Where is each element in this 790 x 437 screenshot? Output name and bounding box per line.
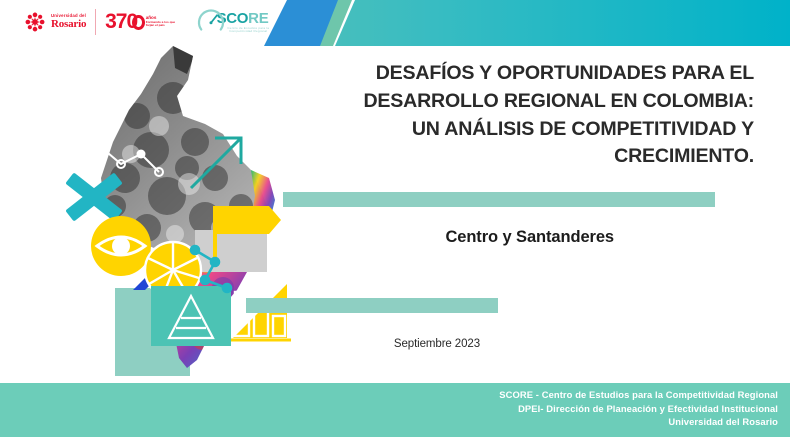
footer-text: SCORE - Centro de Estudios para la Compe… (499, 388, 778, 429)
anniversary-ring-icon (132, 15, 145, 30)
logo-divider (95, 9, 96, 35)
title-line-3: UN ANÁLISIS DE COMPETITIVIDAD Y (314, 116, 754, 144)
anniversary-logo: 370 años Formando a los que forjan el pa… (105, 10, 181, 34)
score-acronym-second: RE (248, 10, 268, 27)
score-gauge-icon (196, 7, 226, 37)
page-subtitle: Centro y Santanderes (314, 228, 614, 247)
universidad-del-rosario-logo: Universidad del Rosario (24, 11, 86, 33)
teal-bar-lower (246, 298, 498, 313)
eye-target-icon (91, 216, 151, 276)
footer-line-2: DPEI- Dirección de Planeación y Efectivi… (499, 402, 778, 416)
title-line-2: DESARROLLO REGIONAL EN COLOMBIA: (314, 88, 754, 116)
colombia-map-artwork (55, 38, 305, 378)
teal-bar-upper (283, 192, 715, 207)
title-line-1: DESAFÍOS Y OPORTUNIDADES PARA EL (314, 60, 754, 88)
page-title: DESAFÍOS Y OPORTUNIDADES PARA EL DESARRO… (314, 60, 754, 171)
university-name: Rosario (51, 19, 86, 30)
presentation-slide: Universidad del Rosario 370 años Formand… (0, 0, 790, 437)
score-logo: SCORE Centro de Estudios para la Competi… (196, 7, 280, 37)
footer-bar: SCORE - Centro de Estudios para la Compe… (0, 383, 790, 437)
title-line-4: CRECIMIENTO. (314, 143, 754, 171)
presentation-date: Septiembre 2023 (260, 338, 480, 350)
footer-line-3: Universidad del Rosario (499, 415, 778, 429)
gray-block-decor (195, 230, 267, 272)
pyramid-icon (151, 286, 231, 346)
footer-line-1: SCORE - Centro de Estudios para la Compe… (499, 388, 778, 402)
rosario-crest-icon (24, 11, 46, 33)
anniversary-tagline: Formando a los que forjan el país (146, 21, 182, 27)
score-tagline: Centro de Estudios para la Competitivida… (217, 27, 280, 33)
